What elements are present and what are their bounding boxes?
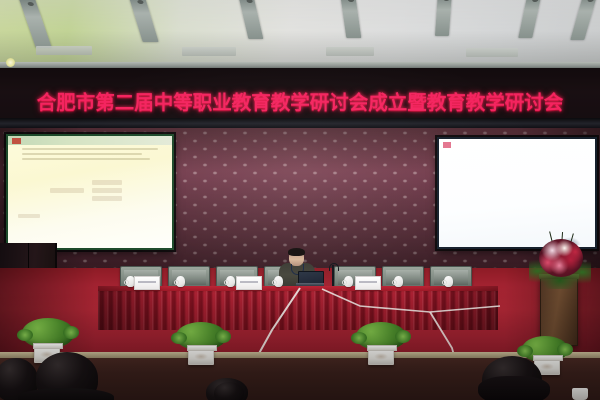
ceiling-vent-strip [466, 48, 518, 57]
mic-neck [332, 265, 334, 287]
mic-head [329, 263, 339, 271]
name-card [355, 276, 381, 290]
banner-title-text: 合肥市第二届中等职业教育教学研讨会成立暨教育教学研讨会 [37, 93, 564, 113]
teapot [344, 276, 353, 287]
head-table [98, 286, 498, 330]
conference-hall-photo: 合肥市第二届中等职业教育教学研讨会成立暨教育教学研讨会 [0, 0, 600, 400]
ceiling-lamp [6, 58, 15, 67]
screen-slide-text [92, 188, 122, 193]
teapot [444, 276, 453, 287]
screen-slide-text [92, 180, 122, 185]
speaker-hair [288, 248, 305, 256]
audience-hair [478, 376, 550, 400]
teapot [226, 276, 235, 287]
plant-pot [368, 346, 394, 365]
teapot [274, 276, 283, 287]
screen-slide-text [18, 214, 40, 218]
bouquet-flowers [539, 239, 583, 277]
left-projection-screen [6, 134, 174, 250]
table-shading [98, 286, 498, 330]
ceiling-vent-strip [326, 47, 374, 56]
event-banner: 合肥市第二届中等职业教育教学研讨会成立暨教育教学研讨会 [0, 88, 600, 118]
teapot [176, 276, 185, 287]
laptop[interactable] [296, 271, 324, 286]
screen-slide-header [8, 136, 172, 145]
banner-mount-strip [0, 118, 600, 128]
screen-slide-marker [12, 138, 21, 144]
screen-slide-text [50, 188, 84, 193]
ceiling-vent-strip [36, 46, 92, 55]
ceiling-shading [0, 0, 600, 68]
gooseneck-microphone[interactable] [327, 262, 339, 288]
water-cup [572, 388, 588, 400]
teapot [394, 276, 403, 287]
name-card [134, 276, 160, 290]
screen-slide-text [92, 196, 122, 201]
name-card [236, 276, 262, 290]
ceiling-vent-strip [182, 47, 236, 56]
plant-pot [188, 346, 214, 365]
audience-shoulder [18, 388, 114, 400]
floral-arrangement [529, 231, 591, 291]
audience-head [214, 382, 244, 400]
screen-slide-marker [443, 142, 451, 148]
